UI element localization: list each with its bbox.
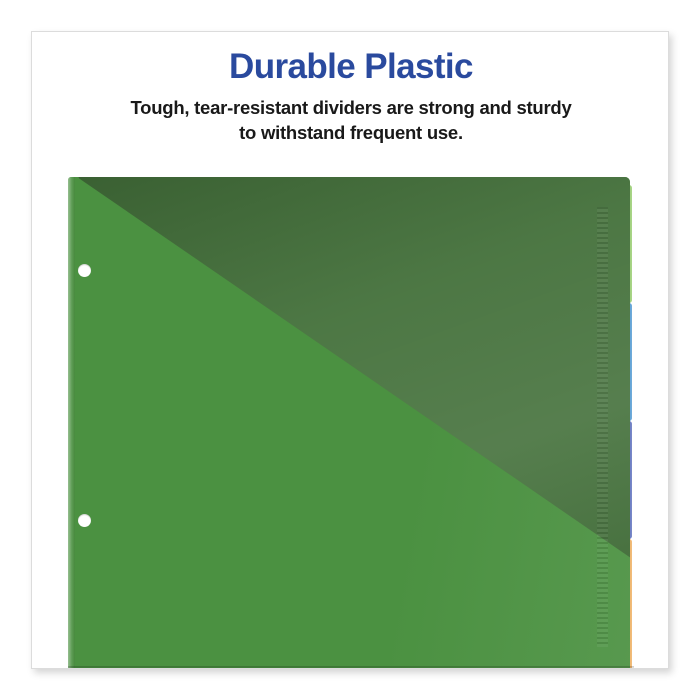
product-photo [32, 158, 669, 669]
product-card: Durable Plastic Tough, tear-resistant di… [31, 31, 669, 669]
punch-hole-bottom [78, 514, 91, 527]
page-title: Durable Plastic [32, 47, 669, 86]
subtitle: Tough, tear-resistant dividers are stron… [32, 96, 669, 145]
product-feature-image: Durable Plastic Tough, tear-resistant di… [0, 0, 700, 700]
divider-sheet [68, 177, 630, 669]
binding-edge [68, 177, 75, 669]
sheet-contact-shadow [68, 666, 634, 669]
spine-texture [597, 207, 608, 647]
marketing-copy: Durable Plastic Tough, tear-resistant di… [32, 47, 669, 145]
subtitle-line-2: to withstand frequent use. [70, 121, 632, 145]
subtitle-line-1: Tough, tear-resistant dividers are stron… [70, 96, 632, 120]
punch-hole-top [78, 264, 91, 277]
